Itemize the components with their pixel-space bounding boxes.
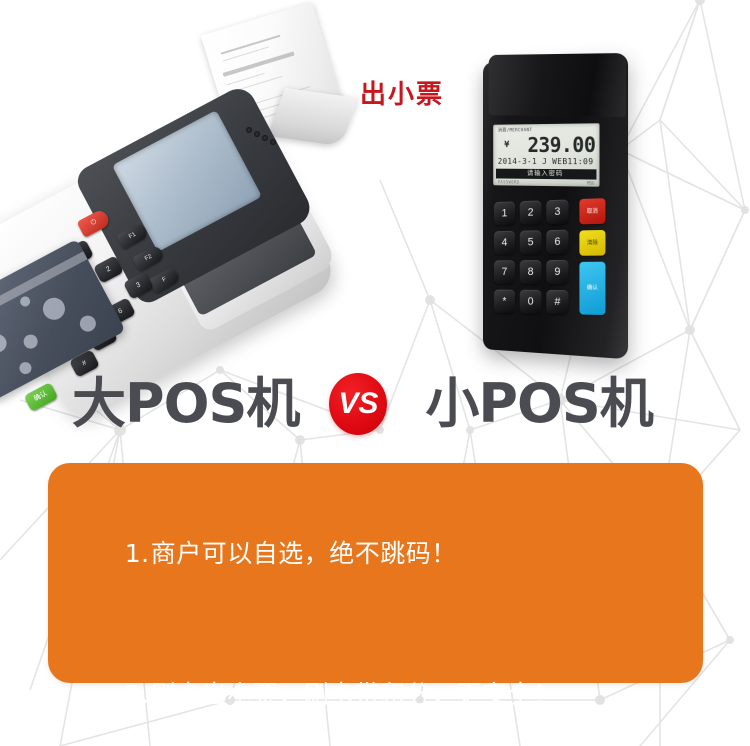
small-pos-confirm-key[interactable]: 确认 xyxy=(579,262,605,315)
small-pos-cancel-key[interactable]: 取消 xyxy=(579,198,605,224)
feature-text-2: 刷卡出小票，刷卡带积分，更安全！ xyxy=(151,680,559,709)
lcd-amount: 239.00 xyxy=(499,132,596,157)
feature-number-1: 1. xyxy=(125,530,151,577)
small-pos-key-3[interactable]: 3 xyxy=(546,199,568,224)
vs-badge: VS xyxy=(329,373,387,435)
small-pos-key-4[interactable]: 4 xyxy=(494,231,515,255)
status-led-1 xyxy=(246,127,252,133)
small-pos-key-2[interactable]: 2 xyxy=(520,200,542,224)
small-pos-title: 小POS机 xyxy=(425,377,652,431)
small-pos-key-7[interactable]: 7 xyxy=(494,260,515,284)
small-pos-key-1[interactable]: 1 xyxy=(494,201,515,225)
small-pos-key-0[interactable]: 0 xyxy=(520,290,542,314)
small-pos-card-slot-head xyxy=(489,53,626,117)
feature-number-2: 2. xyxy=(125,671,151,718)
small-pos-key-6[interactable]: 6 xyxy=(546,230,568,254)
status-led-4 xyxy=(270,139,276,145)
small-pos-clear-key[interactable]: 清除 xyxy=(579,230,605,256)
small-pos-key-star[interactable]: * xyxy=(494,290,515,314)
lcd-footer-left: PASSWORD xyxy=(498,179,520,184)
large-pos-title: 大POS机 xyxy=(72,377,299,431)
feature-list-panel: 1.商户可以自选，绝不跳码！ 2.刷卡出小票，刷卡带积分，更安全！ 3.刷卡直接… xyxy=(48,463,703,683)
promo-poster: ⏻ F1 F2 F 1 2 3 4 5 6 7 8 9 * 0 # 取消 清除 … xyxy=(0,0,750,746)
feature-item-1: 1.商户可以自选，绝不跳码！ xyxy=(74,483,677,624)
lcd-footer-right: MSG xyxy=(587,181,594,186)
comparison-headline: 大POS机 VS 小POS机 xyxy=(0,362,750,446)
feature-item-2: 2.刷卡出小票，刷卡带积分，更安全！ xyxy=(74,624,677,746)
lcd-datetime: 2014-3-1 J WEB11:09 xyxy=(498,157,594,166)
lcd-currency-symbol: ¥ xyxy=(504,140,509,150)
status-led-3 xyxy=(262,135,268,141)
small-pos-key-8[interactable]: 8 xyxy=(520,260,542,284)
small-pos-terminal: 消费/MERCHANT 239.00 ¥ 2014-3-1 J WEB11:09… xyxy=(460,52,650,362)
status-led-2 xyxy=(254,131,260,137)
small-pos-keypad: 1 2 3 4 5 6 7 8 9 * 0 # 取消 清除 确认 xyxy=(490,198,620,351)
receipt-callout-label: 出小票 xyxy=(360,74,444,111)
small-pos-key-5[interactable]: 5 xyxy=(520,230,542,254)
feature-text-1: 商户可以自选，绝不跳码！ xyxy=(151,539,457,568)
lcd-password-prompt: 请输入密码 xyxy=(496,169,597,180)
small-pos-lcd-display: 消费/MERCHANT 239.00 ¥ 2014-3-1 J WEB11:09… xyxy=(493,123,599,187)
small-pos-key-9[interactable]: 9 xyxy=(546,260,568,284)
small-pos-key-hash[interactable]: # xyxy=(546,290,568,314)
